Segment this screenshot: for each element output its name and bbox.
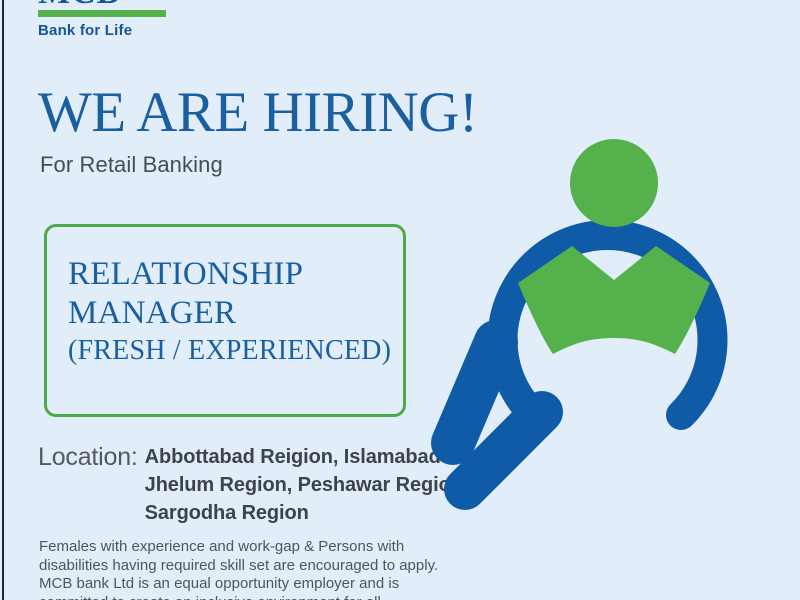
role-title-line-1: RELATIONSHIP bbox=[68, 255, 398, 294]
fineprint-block: Females with experience and work-gap & P… bbox=[39, 538, 459, 600]
hiring-poster: MCB Bank for Life WE ARE HIRING! For Ret… bbox=[0, 0, 800, 600]
role-title-line-2: MANAGER bbox=[68, 294, 398, 333]
logo-wordmark: MCB bbox=[38, 0, 208, 8]
hiring-artwork bbox=[420, 120, 800, 600]
location-label: Location: bbox=[38, 443, 138, 472]
page-title: WE ARE HIRING! bbox=[38, 83, 477, 143]
page-subtitle: For Retail Banking bbox=[40, 152, 223, 178]
mcb-logo: MCB Bank for Life bbox=[38, 0, 208, 39]
fineprint-line-1: Females with experience and work-gap & P… bbox=[39, 538, 459, 557]
logo-green-bar bbox=[38, 10, 166, 17]
role-title-line-3: (FRESH / EXPERIENCED) bbox=[68, 333, 398, 369]
fineprint-line-4: committed to create an inclusive environ… bbox=[39, 594, 459, 600]
fineprint-line-2: disabilities having required skill set a… bbox=[39, 557, 459, 576]
logo-tagline: Bank for Life bbox=[38, 22, 208, 39]
fineprint-line-3: MCB bank Ltd is an equal opportunity emp… bbox=[39, 575, 459, 594]
left-edge-rule bbox=[2, 0, 4, 600]
role-title-group: RELATIONSHIP MANAGER (FRESH / EXPERIENCE… bbox=[68, 255, 398, 369]
